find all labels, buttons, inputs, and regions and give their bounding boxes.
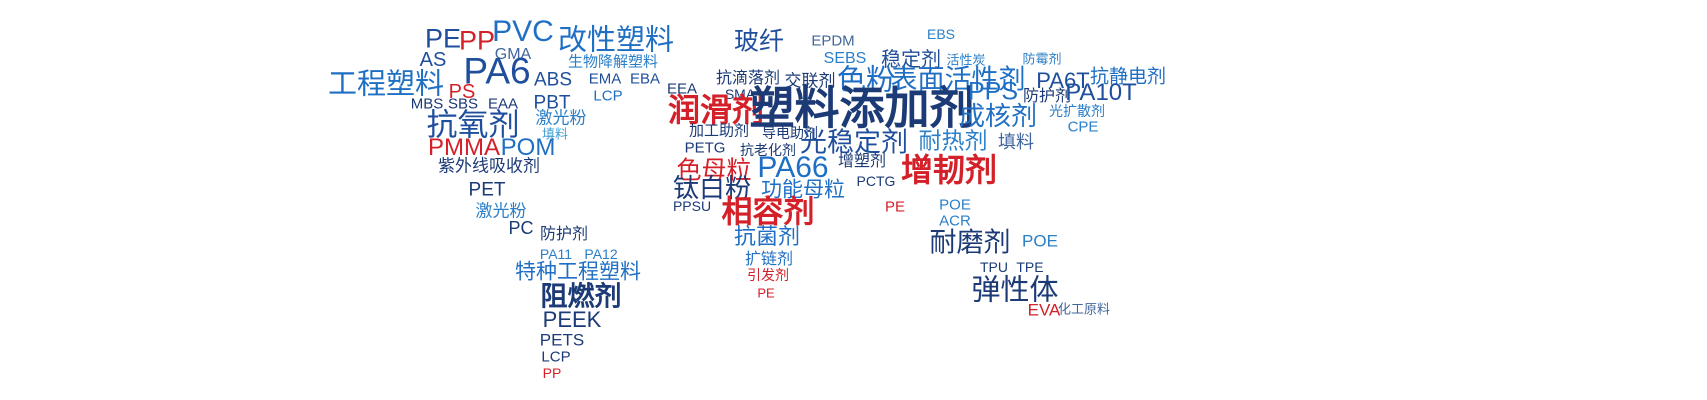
word-cloud-term[interactable]: 改性塑料 [558,26,674,55]
word-cloud-term[interactable]: 扩链剂 [745,251,793,267]
word-cloud-term[interactable]: EPDM [811,34,854,49]
word-cloud-term[interactable]: PEEK [543,309,602,331]
word-cloud-term[interactable]: 光扩散剂 [1049,105,1105,119]
word-cloud-term[interactable]: 生物降解塑料 [568,55,658,70]
word-cloud-term[interactable]: 相容剂 [722,198,815,229]
word-cloud-term[interactable]: PP [543,366,562,380]
word-cloud-term[interactable]: LCP [593,89,622,104]
word-cloud-term[interactable]: 塑料添加剂 [749,86,974,131]
word-cloud-term[interactable]: 成核剂 [959,104,1037,130]
word-cloud-term[interactable]: PE [885,200,905,215]
word-cloud-term[interactable]: PPS [968,80,1018,105]
word-cloud-term[interactable]: 特种工程塑料 [515,262,641,283]
word-cloud-term[interactable]: 填料 [998,134,1034,152]
word-cloud-term[interactable]: EVA [1028,302,1061,319]
word-cloud-term[interactable]: 增韧剂 [901,154,997,186]
word-cloud-term[interactable]: 加工助剂 [689,124,749,139]
word-cloud-term[interactable]: 激光粉 [536,111,587,128]
word-cloud-canvas: PEPPPVCGMAASPA6工程塑料PSABSMBSSBSEAAPBT抗氧剂激… [0,0,1707,400]
word-cloud-term[interactable]: 化工原料 [1058,304,1110,317]
word-cloud-term[interactable]: PETS [540,332,584,349]
word-cloud-term[interactable]: 抗菌剂 [734,227,800,249]
word-cloud-term[interactable]: 工程塑料 [328,70,444,99]
word-cloud-term[interactable]: 耐磨剂 [930,230,1011,257]
word-cloud-term[interactable]: 防护剂 [540,226,588,242]
word-cloud-term[interactable]: CPE [1068,120,1099,135]
word-cloud-term[interactable]: ACR [939,214,971,229]
word-cloud-term[interactable]: EBS [927,27,955,41]
word-cloud-term[interactable]: ABS [534,71,572,90]
word-cloud-term[interactable]: EBA [630,72,660,87]
word-cloud-term[interactable]: PE [757,287,774,300]
word-cloud-term[interactable]: PCTG [857,174,896,188]
word-cloud-term[interactable]: 增塑剂 [838,153,886,169]
word-cloud-term[interactable]: PA10T [1065,81,1137,105]
word-cloud-term[interactable]: 紫外线吸收剂 [438,159,540,176]
word-cloud-term[interactable]: PPSU [673,199,711,213]
word-cloud-term[interactable]: 玻纤 [734,29,784,54]
word-cloud-term[interactable]: 防霉剂 [1022,54,1061,67]
word-cloud-term[interactable]: PVC [492,17,554,47]
word-cloud-term[interactable]: 引发剂 [747,269,789,283]
word-cloud-term[interactable]: PC [508,219,533,237]
word-cloud-term[interactable]: PET [469,181,506,200]
word-cloud-term[interactable]: PETG [685,141,726,156]
word-cloud-term[interactable]: POE [1022,233,1058,250]
word-cloud-term[interactable]: LCP [541,350,570,365]
word-cloud-term[interactable]: EMA [589,72,622,87]
word-cloud-term[interactable]: POE [939,198,971,213]
